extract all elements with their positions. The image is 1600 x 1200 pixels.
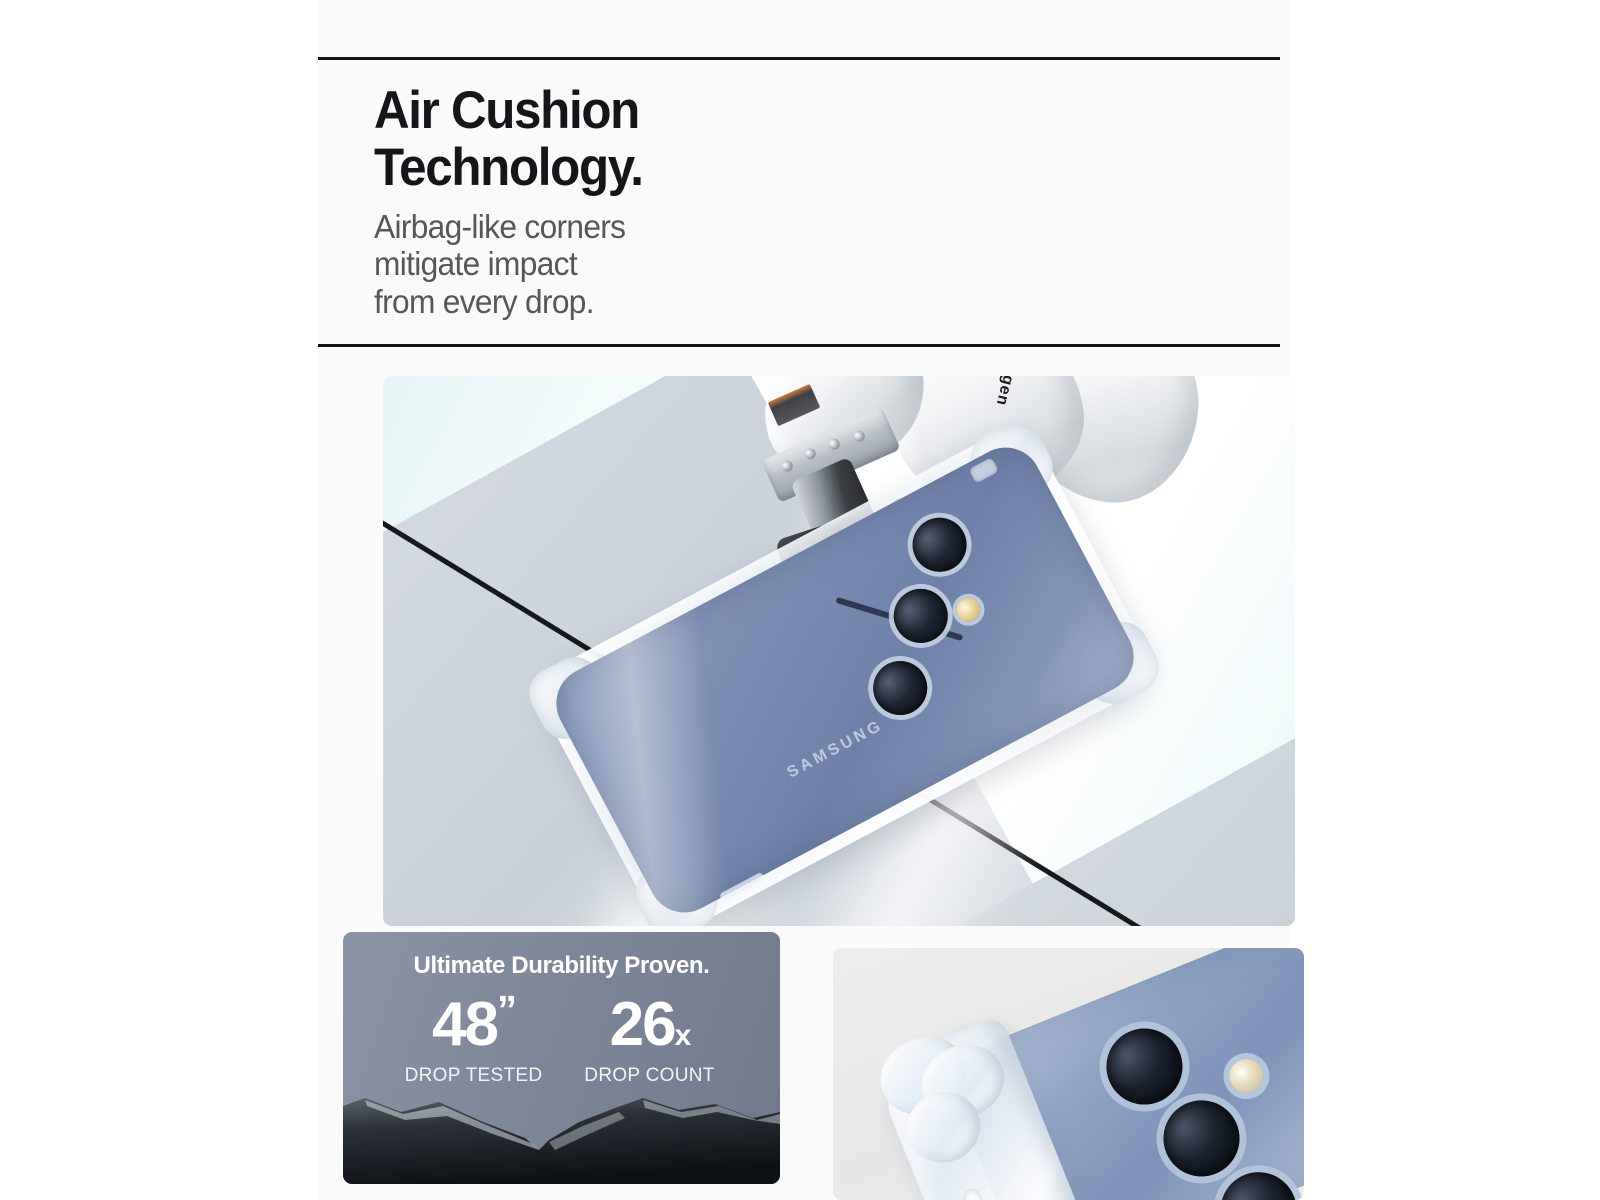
stats-card-title: Ultimate Durability Proven. bbox=[343, 952, 780, 980]
camera-lens bbox=[864, 651, 937, 724]
stats-row: 48” DROP TESTED 26x DROP COUNT bbox=[343, 994, 780, 1087]
hero-drop-test-image: spigen SAMSUNG bbox=[383, 376, 1295, 926]
stat-drop-count: 26x DROP COUNT bbox=[575, 994, 725, 1087]
mountain-icon bbox=[343, 1088, 780, 1184]
stat-unit: x bbox=[675, 1019, 690, 1052]
stat-value: 26 bbox=[610, 990, 675, 1059]
page-subtitle: Airbag-like corners mitigate impact from… bbox=[374, 208, 625, 320]
camera-lens bbox=[903, 508, 976, 581]
stat-value: 48 bbox=[432, 990, 497, 1059]
stat-unit: ” bbox=[497, 988, 515, 1032]
product-feature-page: Air Cushion Technology. Airbag-like corn… bbox=[0, 0, 1600, 1200]
samsung-logo: SAMSUNG bbox=[785, 717, 887, 783]
camera-lens bbox=[1095, 1017, 1194, 1116]
arm-bolt bbox=[852, 429, 867, 444]
camera-flash bbox=[1224, 1054, 1268, 1098]
stat-drop-tested: 48” DROP TESTED bbox=[399, 994, 549, 1087]
closeup-button-cover bbox=[960, 1186, 1008, 1200]
mountain-silhouette bbox=[343, 1088, 780, 1184]
camera-lens bbox=[1152, 1089, 1251, 1188]
stat-label: DROP TESTED bbox=[399, 1065, 549, 1087]
stat-label: DROP COUNT bbox=[575, 1065, 725, 1087]
stat-value-group: 26x bbox=[575, 994, 725, 1056]
arm-bolt bbox=[803, 447, 818, 462]
header-block: Air Cushion Technology. Airbag-like corn… bbox=[318, 57, 1280, 347]
camera-flash bbox=[952, 594, 984, 626]
camera-lens bbox=[884, 579, 957, 652]
arm-bolt bbox=[827, 437, 842, 452]
durability-stats-card: Ultimate Durability Proven. 48” DROP TES… bbox=[343, 932, 780, 1184]
case-closeup-phone bbox=[878, 948, 1304, 1200]
page-title: Air Cushion Technology. bbox=[374, 83, 643, 196]
stat-value-group: 48” bbox=[399, 994, 549, 1056]
case-closeup-card bbox=[833, 948, 1304, 1200]
